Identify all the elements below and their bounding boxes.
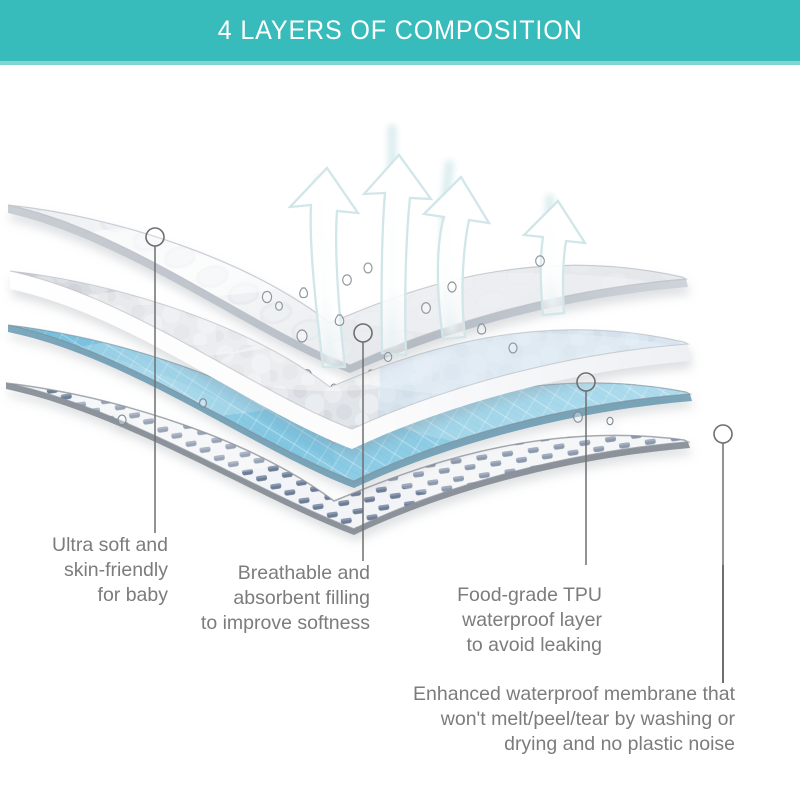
callout-marker-4[interactable] — [714, 425, 732, 565]
header-banner: 4 LAYERS OF COMPOSITION — [0, 0, 800, 61]
callout-label-food-grade-tpu: Food-grade TPU waterproof layer to avoid… — [370, 583, 602, 658]
callout-label-ultra-soft: Ultra soft and skin-friendly for baby — [0, 533, 168, 608]
callout-4-leader-extension — [722, 565, 724, 683]
layer-diagram-svg — [0, 65, 800, 565]
callout-label-enhanced-membrane: Enhanced waterproof membrane that won't … — [280, 682, 735, 757]
layer-diagram — [0, 65, 800, 565]
page-title: 4 LAYERS OF COMPOSITION — [218, 15, 583, 46]
callout-label-breathable-filling: Breathable and absorbent filling to impr… — [150, 561, 370, 636]
infographic-page: 4 LAYERS OF COMPOSITION — [0, 0, 800, 800]
